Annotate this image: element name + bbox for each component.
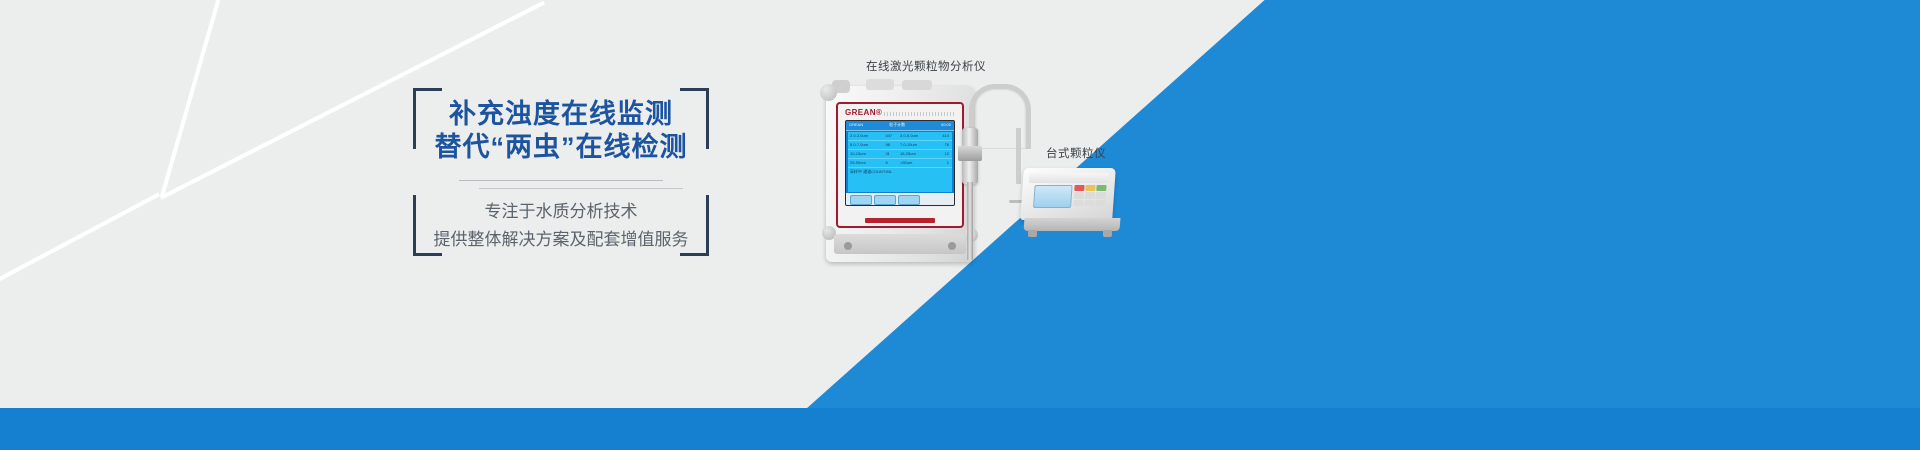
sampling-tube-right-leg xyxy=(1016,128,1021,184)
lcd-button-bar xyxy=(846,193,954,205)
headline-line-1: 补充浊度在线监测 xyxy=(413,98,709,131)
product-label-online-analyzer: 在线激光颗粒物分析仪 xyxy=(866,58,986,74)
desktop-unit-keypad[interactable] xyxy=(1073,185,1106,206)
analyzer-port-right xyxy=(948,242,956,250)
analyzer-knob-top-left xyxy=(820,84,837,101)
lcd-cell-left: 10-15um xyxy=(850,151,866,156)
sampling-tube-loop xyxy=(969,84,1031,149)
lcd-cell-right: 3.0-5.0um xyxy=(900,133,918,138)
lcd-cell-left: 2.0-3.0um xyxy=(850,133,868,138)
lcd-header-right: 00:00 xyxy=(941,122,951,127)
analyzer-mount-lug-center xyxy=(866,79,894,90)
sampling-probe-stem xyxy=(967,182,973,260)
desktop-unit-top-vent xyxy=(1029,173,1110,183)
hero-banner: 补充浊度在线监测 替代“两虫”在线检测 专注于水质分析技术 提供整体解决方案及配… xyxy=(0,0,1920,450)
lcd-cell-value: 76 xyxy=(945,142,949,147)
lcd-row: 25-50um 5 >50um 1 xyxy=(848,159,952,168)
desktop-unit-body xyxy=(1020,168,1116,220)
analyzer-lower-housing xyxy=(834,234,966,254)
lcd-header: GREAN 粒子计数 00:00 xyxy=(846,121,954,131)
lcd-header-center: 粒子计数 xyxy=(889,122,905,128)
analyzer-brand-logo: GREAN® xyxy=(845,108,882,117)
analyzer-brand-text: GREAN xyxy=(845,108,876,117)
analyzer-front-panel: GREAN® GREAN 粒子计数 00:00 2.0-3.0um 447 3.… xyxy=(836,102,964,228)
online-laser-particle-analyzer: GREAN® GREAN 粒子计数 00:00 2.0-3.0um 447 3.… xyxy=(826,86,974,262)
lcd-button-settings[interactable] xyxy=(874,195,896,205)
keypad-key[interactable] xyxy=(1095,200,1105,206)
lcd-cell-mid: 447 xyxy=(885,133,892,138)
lcd-cell-right: 15-25um xyxy=(900,151,916,156)
headline-divider-1 xyxy=(459,180,663,181)
lcd-header-left: GREAN xyxy=(849,122,863,127)
analyzer-brand-hatching xyxy=(884,112,956,116)
desktop-particle-counter xyxy=(1022,168,1122,242)
lcd-cell-right: >50um xyxy=(900,160,912,165)
lcd-status-row: 采样中 通道COUNT/ML xyxy=(848,168,952,176)
keypad-key[interactable] xyxy=(1084,200,1094,206)
analyzer-brand-superscript: ® xyxy=(876,108,882,117)
desktop-unit-display[interactable] xyxy=(1033,185,1073,208)
analyzer-mount-lug-right xyxy=(902,80,932,90)
desktop-unit-foot-right xyxy=(1103,230,1112,237)
keypad-key[interactable] xyxy=(1096,192,1106,198)
lcd-cell-value: 12 xyxy=(945,151,949,156)
analyzer-lcd-screen[interactable]: GREAN 粒子计数 00:00 2.0-3.0um 447 3.0-5.0um… xyxy=(845,120,955,206)
headline-block: 补充浊度在线监测 替代“两虫”在线检测 专注于水质分析技术 提供整体解决方案及配… xyxy=(413,88,709,256)
headline: 补充浊度在线监测 替代“两虫”在线检测 xyxy=(413,98,709,164)
lcd-row: 2.0-3.0um 447 3.0-5.0um 414 xyxy=(848,132,952,141)
lcd-cell-mid: 5 xyxy=(885,160,887,165)
keypad-key[interactable] xyxy=(1073,200,1083,206)
lcd-cell-left: 25-50um xyxy=(850,160,866,165)
lcd-cell-left: 5.0-7.0um xyxy=(850,142,868,147)
background-bottom-bar xyxy=(0,408,1920,450)
subtitle: 专注于水质分析技术 提供整体解决方案及配套增值服务 xyxy=(413,198,709,254)
analyzer-company-tag xyxy=(865,218,934,223)
lcd-cell-value: 1 xyxy=(947,160,949,165)
lcd-cell-value: 414 xyxy=(942,133,949,138)
lcd-cell-mid: 98 xyxy=(885,142,889,147)
subtitle-line-1: 专注于水质分析技术 xyxy=(413,198,709,226)
lcd-row: 5.0-7.0um 98 7.0-10um 76 xyxy=(848,141,952,150)
keypad-key[interactable] xyxy=(1074,185,1084,191)
lcd-button-print[interactable] xyxy=(898,195,920,205)
product-label-desktop-counter: 台式颗粒仪 xyxy=(1046,145,1106,161)
keypad-key[interactable] xyxy=(1085,185,1095,191)
headline-divider-2 xyxy=(479,188,683,189)
keypad-key[interactable] xyxy=(1096,185,1106,191)
lcd-row: 10-15um 31 15-25um 12 xyxy=(848,150,952,159)
sampling-probe-nut xyxy=(958,146,982,161)
lcd-readout-table: 2.0-3.0um 447 3.0-5.0um 414 5.0-7.0um 98… xyxy=(848,132,952,192)
keypad-key[interactable] xyxy=(1085,192,1095,198)
lcd-cell-mid: 31 xyxy=(885,151,889,156)
lcd-cell-right: 7.0-10um xyxy=(900,142,917,147)
subtitle-line-2: 提供整体解决方案及配套增值服务 xyxy=(413,226,709,254)
analyzer-port-left xyxy=(844,242,852,250)
keypad-key[interactable] xyxy=(1074,192,1084,198)
lcd-status-text: 采样中 通道COUNT/ML xyxy=(850,169,892,175)
headline-line-2: 替代“两虫”在线检测 xyxy=(413,131,709,164)
desktop-unit-foot-left xyxy=(1028,230,1037,237)
lcd-button-start[interactable] xyxy=(850,195,872,205)
